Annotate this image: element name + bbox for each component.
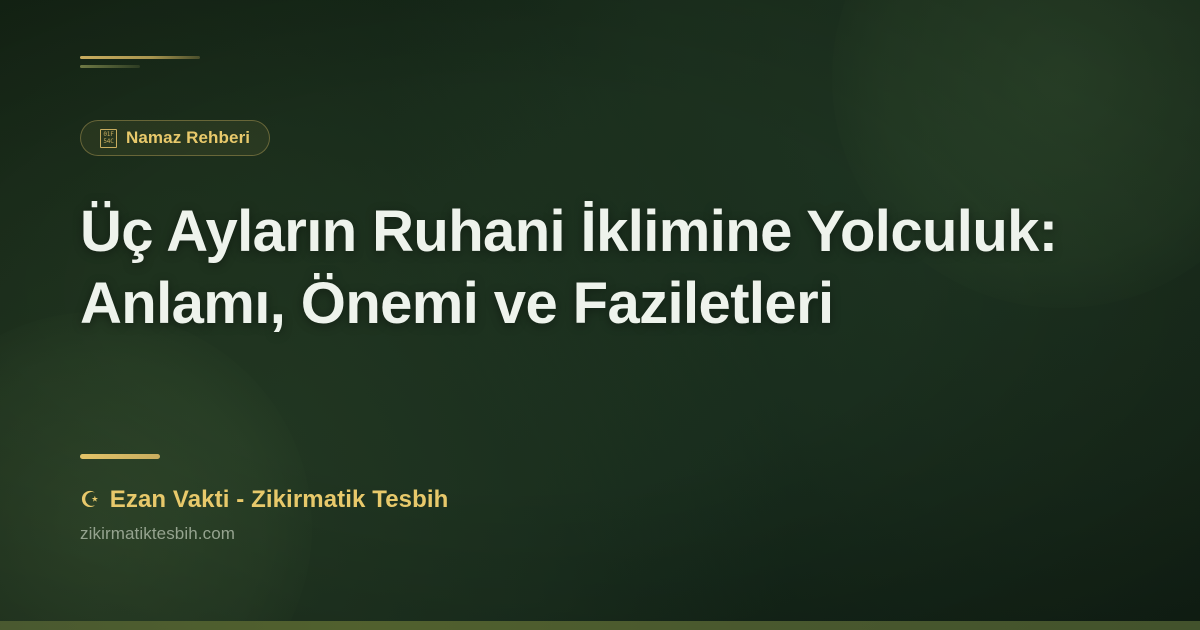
site-url: zikirmatiktesbih.com — [80, 524, 448, 544]
category-badge-label: Namaz Rehberi — [126, 128, 250, 148]
footer-divider — [80, 454, 160, 459]
page-title: Üç Ayların Ruhani İklimine Yolculuk: Anl… — [80, 196, 1150, 340]
brand-name: Ezan Vakti - Zikirmatik Tesbih — [110, 486, 449, 514]
bottom-accent-bar — [0, 621, 1200, 630]
category-badge[interactable]: 01F 54C Namaz Rehberi — [80, 120, 270, 156]
top-rule-short — [80, 65, 140, 68]
card-footer: ☪ Ezan Vakti - Zikirmatik Tesbih zikirma… — [80, 454, 448, 544]
social-share-card: 01F 54C Namaz Rehberi Üç Ayların Ruhani … — [0, 0, 1200, 630]
top-decorative-rules — [80, 56, 200, 74]
crescent-star-icon: ☪ — [80, 489, 100, 511]
brand-row: ☪ Ezan Vakti - Zikirmatik Tesbih — [80, 486, 448, 514]
top-rule-long — [80, 56, 200, 59]
mosque-icon: 01F 54C — [100, 129, 117, 148]
